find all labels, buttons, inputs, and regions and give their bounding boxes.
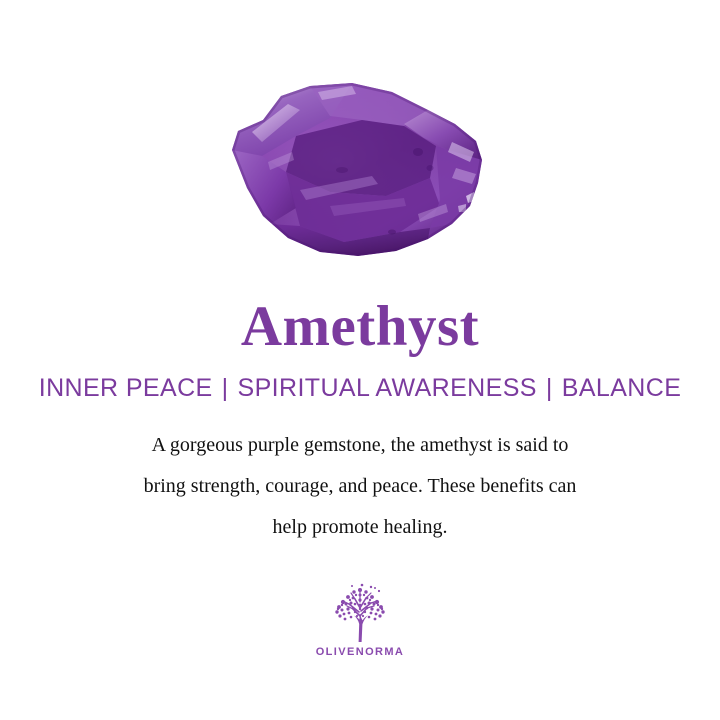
tagline-item-3: BALANCE (562, 374, 682, 402)
description-line: bring strength, courage, and peace. Thes… (40, 466, 680, 507)
description-text: A gorgeous purple gemstone, the amethyst… (40, 425, 680, 548)
tagline-separator: | (213, 374, 238, 403)
tagline-separator: | (537, 374, 562, 403)
description-line: A gorgeous purple gemstone, the amethyst… (40, 425, 680, 466)
tagline: INNER PEACE|SPIRITUAL AWARENESS|BALANCE (0, 374, 720, 403)
tree-icon (327, 582, 393, 644)
page-title: Amethyst (0, 296, 720, 358)
brand-logo: OLIVENORMA (316, 582, 405, 658)
tagline-item-2: SPIRITUAL AWARENESS (238, 374, 537, 402)
description-line: help promote healing. (40, 507, 680, 548)
raw-amethyst-crystal-icon (0, 0, 720, 268)
amethyst-info-card: Amethyst INNER PEACE|SPIRITUAL AWARENESS… (0, 0, 720, 720)
brand-wordmark: OLIVENORMA (316, 646, 405, 658)
tagline-item-1: INNER PEACE (39, 374, 213, 402)
gemstone-image-container (0, 0, 720, 268)
